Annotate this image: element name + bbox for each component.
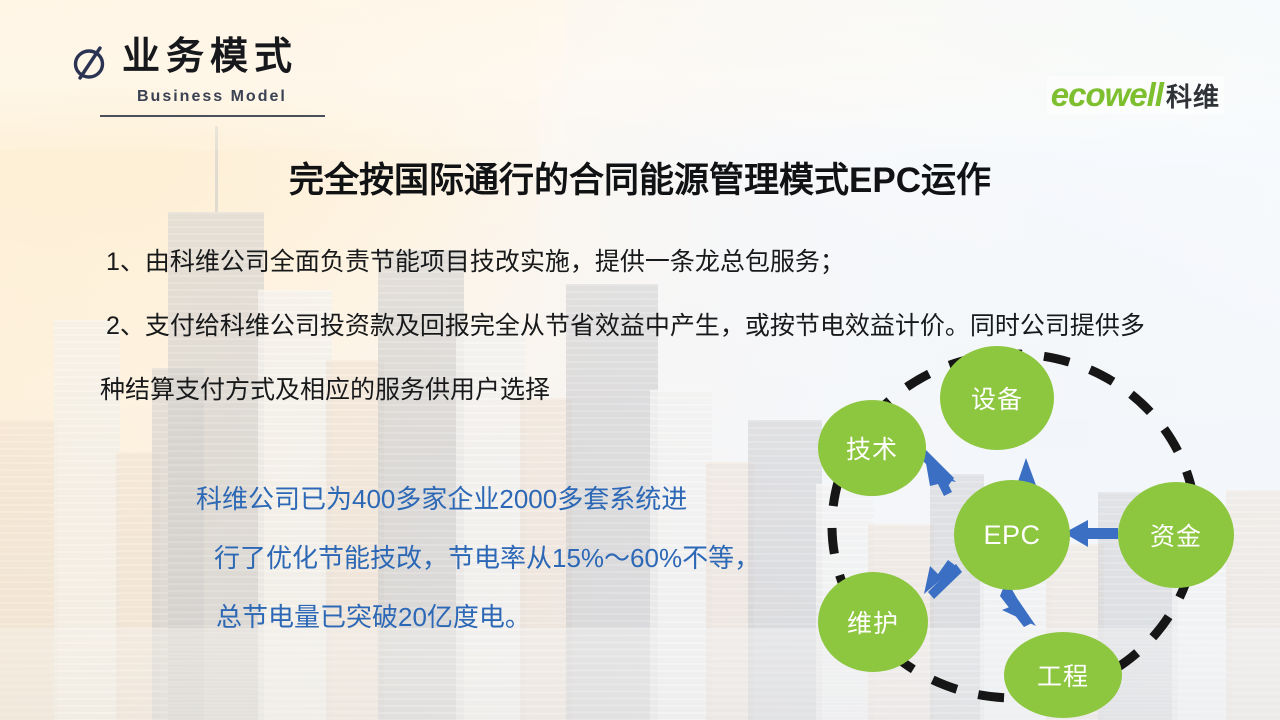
header-divider (100, 115, 325, 117)
arrow-maintain-to-epc (924, 560, 962, 599)
logo-text-en: ecowell (1051, 78, 1163, 112)
highlight-line-2: 行了优化节能技改，节电率从15%～60%不等， (196, 529, 760, 588)
node-project[interactable]: 工程 (1004, 632, 1122, 718)
epc-cycle-diagram: 设备 资金 工程 维护 技术 EPC (796, 330, 1260, 720)
arrow-capital-to-epc (1064, 520, 1118, 547)
node-label: EPC (983, 520, 1040, 551)
highlight-text-block: 科维公司已为400多家企业2000多套系统进 行了优化节能技改，节电率从15%～… (196, 470, 760, 647)
brand-logo: ecowell 科维 (1047, 76, 1224, 114)
node-epc-center[interactable]: EPC (954, 480, 1070, 590)
highlight-line-1: 科维公司已为400多家企业2000多套系统进 (196, 470, 760, 529)
node-label: 资金 (1150, 517, 1202, 553)
node-technology[interactable]: 技术 (818, 400, 926, 496)
node-maintenance[interactable]: 维护 (818, 572, 928, 672)
bullet-item-1: 1、由科维公司全面负责节能项目技改实施，提供一条龙总包服务； (0, 230, 1280, 294)
node-label: 技术 (846, 430, 898, 466)
arrow-tech-to-epc (920, 450, 956, 496)
highlight-line-3: 总节电量已突破20亿度电。 (196, 588, 760, 647)
page-subtitle: Business Model (137, 88, 287, 106)
node-label: 设备 (971, 380, 1023, 416)
arrow-project-to-epc (1000, 586, 1036, 627)
page-title: 业务模式 (122, 34, 298, 80)
node-label: 维护 (847, 604, 899, 640)
node-equipment[interactable]: 设备 (940, 346, 1054, 450)
main-headline: 完全按国际通行的合同能源管理模式EPC运作 (0, 152, 1280, 203)
node-capital[interactable]: 资金 (1118, 482, 1234, 588)
node-label: 工程 (1037, 657, 1089, 693)
slide-root: 业务模式 Business Model ecowell 科维 完全按国际通行的合… (0, 0, 1280, 720)
slashed-circle-icon (68, 41, 112, 85)
logo-text-cn: 科维 (1166, 82, 1220, 112)
